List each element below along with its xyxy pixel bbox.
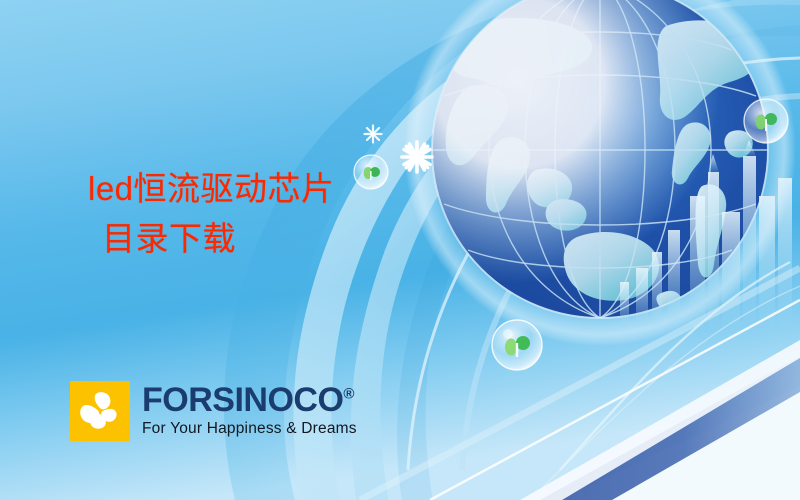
forsinoco-pinwheel-mark [70,381,130,441]
headline-text: led恒流驱动芯片 目录下载 [88,168,508,260]
logo-wordmark: FORSINOCO® [142,383,357,417]
headline-line-2: 目录下载 [88,218,508,260]
logo-text-block: FORSINOCO® For Your Happiness & Dreams [142,381,357,438]
globe-continents [446,18,760,310]
globe [432,0,768,318]
globe-grid [432,0,768,318]
banner-canvas: led恒流驱动芯片 目录下载 FORSINOCO® For Your Happi… [0,0,800,500]
logo-tagline: For Your Happiness & Dreams [142,420,357,438]
logo-wordmark-text: FORSINOCO [142,381,343,419]
headline-line-1: led恒流驱动芯片 [88,168,508,210]
registered-trademark-icon: ® [343,386,354,403]
white-asterisk-flower [365,126,433,173]
company-logo[interactable]: FORSINOCO® For Your Happiness & Dreams [70,381,357,441]
corner-bands [360,268,800,500]
swoosh-trails [540,262,800,490]
faint-city-skyline [620,140,792,326]
